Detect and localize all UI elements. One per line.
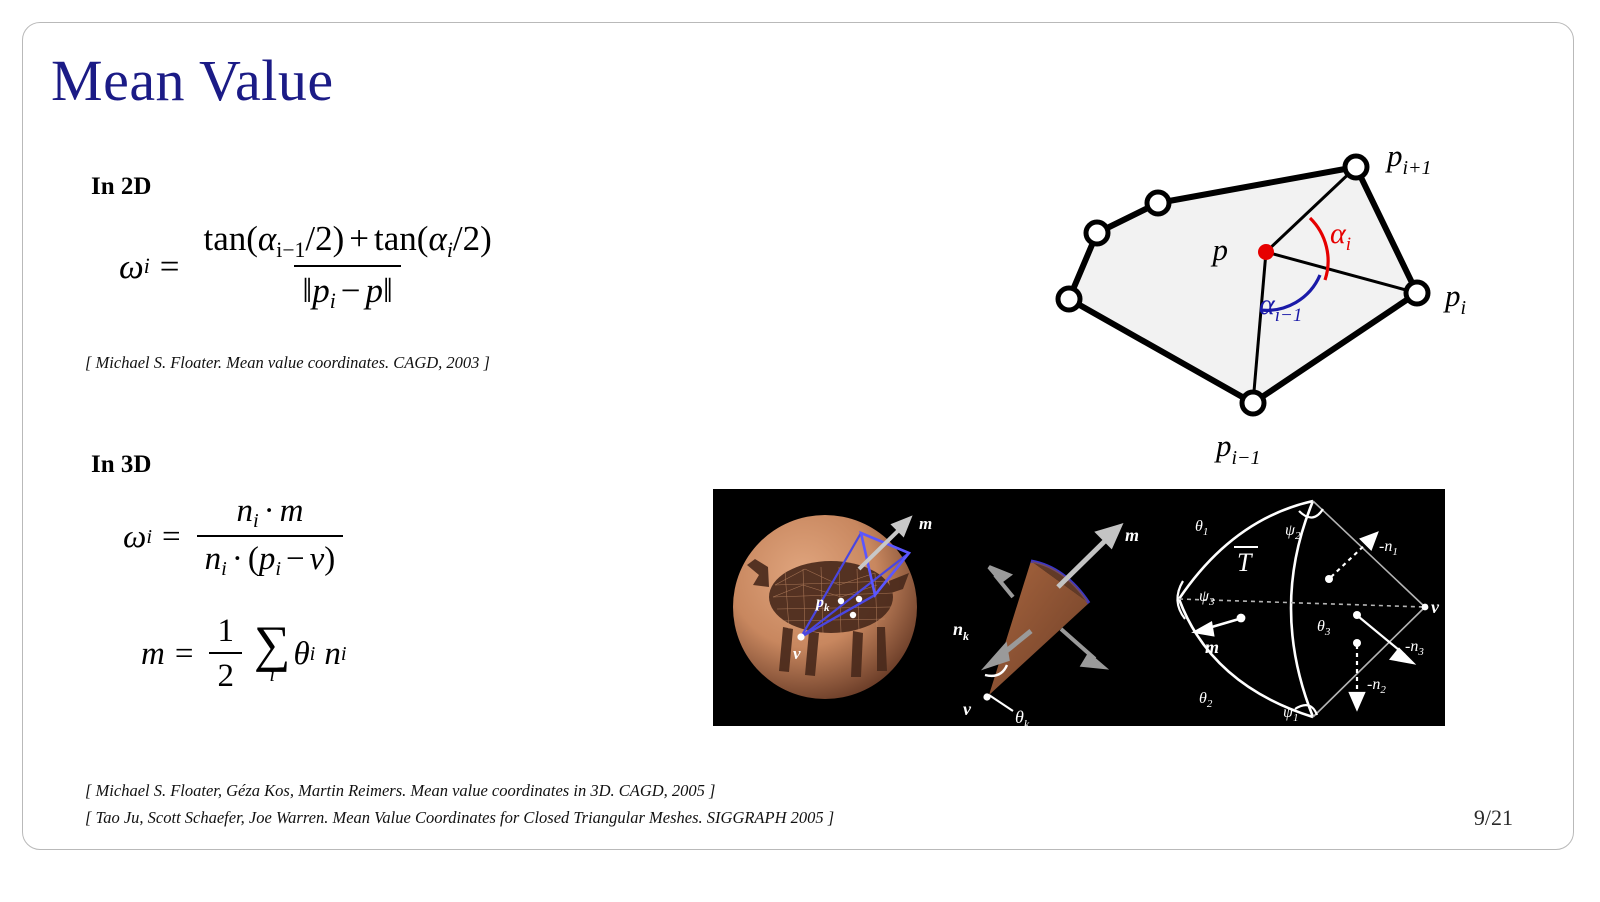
section-heading-3d: In 3D [91,451,151,479]
den-paren-open: ( [248,541,259,577]
norm-open: ‖ [302,271,312,310]
den-n: n [205,541,222,577]
m-n-sub: i [341,643,347,666]
sum-glyph: ∑ [254,624,290,666]
den-p: p [312,271,330,310]
omega-numerator: ni·m [228,493,311,535]
den-paren-close: ) [324,541,335,577]
label-p-cur: pi [1443,278,1466,319]
num-dot: · [264,493,275,529]
slide-frame: Mean Value In 2D ωi = tan(αi−1/2)+tan(αi… [22,22,1574,850]
m-half-fraction: 1 2 [209,613,242,695]
polygon-vertex [1406,282,1428,304]
half-2: /2) [453,219,492,258]
omega-lhs-sub: i [146,526,152,549]
polygon-diagram: p αi αi−1 pi+1 pi pi−1 [1008,108,1528,468]
omega-equals: = [162,519,181,556]
formula-2d: ωi = tan(αi−1/2)+tan(αi/2) ‖pi−p‖ [119,219,506,314]
den-dot: · [232,541,243,577]
polygon-vertex [1345,156,1367,178]
page-number: 9/21 [1474,805,1513,831]
den-v: v [310,541,325,577]
label-p: p [1211,232,1229,267]
label-m-right: m [1205,637,1219,657]
polygon-vertex [1147,192,1169,214]
m-frac-num: 1 [209,613,242,652]
tan-2: tan( [374,219,428,258]
den-p: p [259,541,276,577]
formula-2d-denominator: ‖pi−p‖ [294,265,400,315]
m-equals: = [175,636,194,673]
point-v-right [1422,604,1429,611]
formula-2d-numerator: tan(αi−1/2)+tan(αi/2) [196,219,500,265]
interior-point-p [1258,244,1274,260]
omega-lhs: ω [123,519,146,556]
m-lhs: m [141,636,165,673]
label-v-left: v [793,644,801,663]
summation-symbol: ∑ i [254,624,290,684]
label-v-middle: v [963,699,972,719]
label-v-right: v [1431,597,1440,617]
formula-2d-lhs-sub: i [144,254,150,279]
formula-2d-lhs: ω [119,247,144,287]
alpha-1-sub: i−1 [276,238,305,263]
den-p-sub: i [330,289,336,314]
sum-index: i [269,667,275,684]
label-m-middle: m [1125,525,1139,545]
citation-2d: [ Michael S. Floater. Mean value coordin… [85,353,490,373]
den-p2: p [366,271,384,310]
den-minus: − [286,541,305,577]
citation-3d-ju: [ Tao Ju, Scott Schaefer, Joe Warren. Me… [85,808,834,828]
den-p-sub: i [275,558,281,581]
formula-2d-equals: = [160,247,180,287]
label-m-left: m [919,514,932,533]
formula-3d-m: m = 1 2 ∑ i θi ni [141,613,347,695]
label-T-bar: T [1237,548,1253,577]
formula-3d-omega: ωi = ni·m ni·(pi−v) [123,493,349,581]
den-n-sub: i [221,558,227,581]
point-pk-3 [850,612,856,618]
section-heading-2d: In 2D [91,173,151,201]
num-n-sub: i [253,510,259,533]
point-v-middle [983,693,990,700]
polygon-shape [1069,167,1417,403]
alpha-1: α [258,219,276,258]
m-n: n [324,636,341,673]
point-v-left [797,633,804,640]
m-theta: θ [293,636,309,673]
label-p-prev: pi−1 [1214,428,1261,468]
tan-1: tan( [204,219,258,258]
alpha-2: α [428,219,446,258]
m-theta-sub: i [310,643,316,666]
m-frac-den: 2 [209,652,242,695]
den-minus: − [341,271,361,310]
num-m: m [280,493,304,529]
page-title: Mean Value [51,49,334,113]
omega-fraction: ni·m ni·(pi−v) [197,493,344,581]
polygon-vertex [1242,392,1264,414]
point-pk [838,598,844,604]
polygon-vertex [1058,288,1080,310]
label-p-next: pi+1 [1385,138,1432,179]
half-1: /2) [305,219,344,258]
formula-2d-fraction: tan(αi−1/2)+tan(αi/2) ‖pi−p‖ [196,219,500,314]
point-pk-2 [856,596,862,602]
num-n: n [236,493,253,529]
omega-denominator: ni·(pi−v) [197,535,344,581]
citation-3d-floater: [ Michael S. Floater, Géza Kos, Martin R… [85,781,715,801]
norm-close: ‖ [383,271,393,310]
figure-3d-mean-value: m pk v [713,489,1445,726]
plus-op: + [349,219,369,258]
polygon-vertex [1086,222,1108,244]
